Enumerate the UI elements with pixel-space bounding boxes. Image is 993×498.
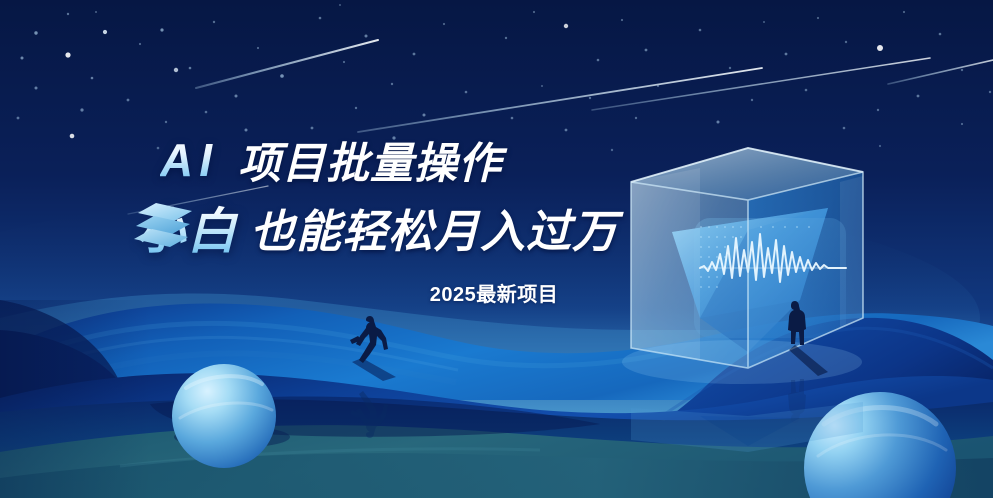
subtitle: 2025最新项目 [0, 278, 993, 307]
layer-plate-bottom [134, 229, 188, 247]
layers-icon [134, 201, 196, 253]
subtitle-text: 2025最新项目 [430, 278, 559, 307]
left-vignette [0, 300, 150, 498]
cube-ground-glow [622, 340, 862, 384]
layer-plate-top [138, 203, 192, 221]
layer-plate-mid [136, 216, 190, 234]
promo-banner: AI 项目批量操作 小白 也能轻松月入过万 2025最新项目 [0, 0, 993, 498]
